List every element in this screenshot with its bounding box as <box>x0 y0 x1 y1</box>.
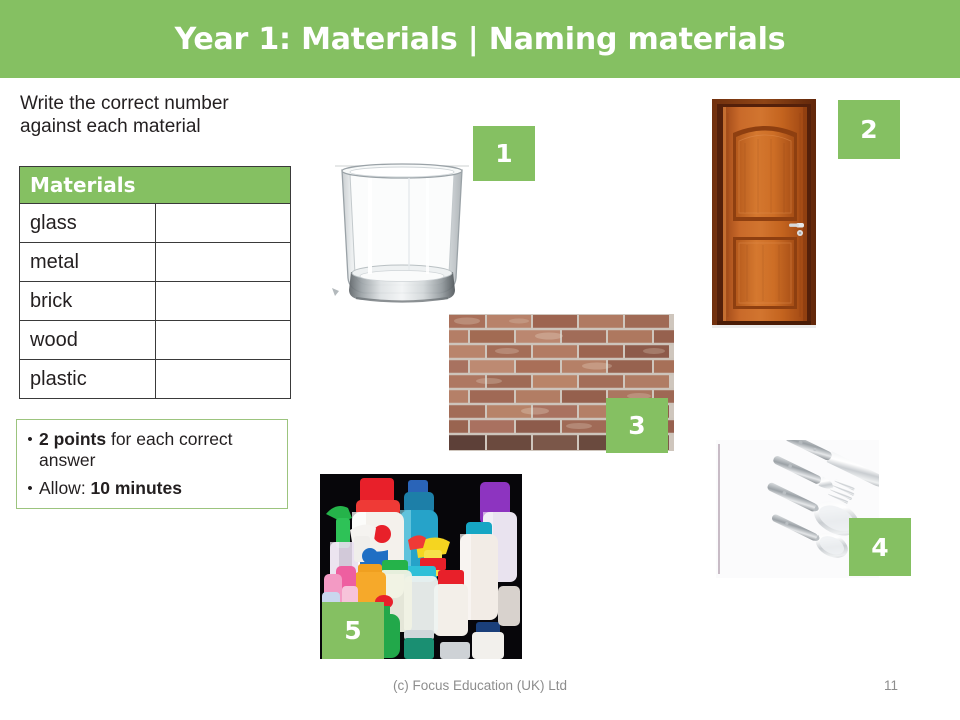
scoring-info-box: • 2 points for each correct answer • All… <box>16 419 288 509</box>
number-badge-3: 3 <box>606 398 668 453</box>
time-allowance-lead: Allow: <box>39 478 91 498</box>
number-badge-5: 5 <box>322 602 384 659</box>
material-label-wood: wood <box>20 321 156 360</box>
number-badge-2: 2 <box>838 100 900 159</box>
table-row: plastic <box>20 360 291 399</box>
answer-cell-wood[interactable] <box>155 321 291 360</box>
material-label-plastic: plastic <box>20 360 156 399</box>
bullet-icon: • <box>21 429 39 450</box>
table-row: glass <box>20 204 291 243</box>
answer-cell-brick[interactable] <box>155 282 291 321</box>
answer-cell-metal[interactable] <box>155 243 291 282</box>
time-allowance-value: 10 minutes <box>91 478 182 498</box>
glass-tumbler-image <box>322 150 482 315</box>
time-allowance-text: Allow: 10 minutes <box>39 478 281 499</box>
number-badge-4: 4 <box>849 518 911 576</box>
answer-cell-glass[interactable] <box>155 204 291 243</box>
number-badge-1: 1 <box>473 126 535 181</box>
material-label-glass: glass <box>20 204 156 243</box>
footer-copyright: (c) Focus Education (UK) Ltd <box>0 678 960 693</box>
footer-page-number: 11 <box>884 678 898 693</box>
table-header-row: Materials <box>20 167 291 204</box>
wooden-door-image <box>703 93 825 333</box>
material-label-brick: brick <box>20 282 156 321</box>
table-header-materials: Materials <box>20 167 291 204</box>
bullet-icon: • <box>21 478 39 499</box>
list-item: • Allow: 10 minutes <box>21 478 281 499</box>
table-row: metal <box>20 243 291 282</box>
points-rule-text: 2 points for each correct answer <box>39 429 281 471</box>
instruction-text: Write the correct number against each ma… <box>20 92 295 138</box>
table-row: brick <box>20 282 291 321</box>
table-row: wood <box>20 321 291 360</box>
points-value: 2 points <box>39 429 106 449</box>
list-item: • 2 points for each correct answer <box>21 429 281 471</box>
answer-cell-plastic[interactable] <box>155 360 291 399</box>
page-title: Year 1: Materials | Naming materials <box>0 0 960 78</box>
material-label-metal: metal <box>20 243 156 282</box>
materials-table: Materials glass metal brick wood plastic <box>19 166 291 399</box>
